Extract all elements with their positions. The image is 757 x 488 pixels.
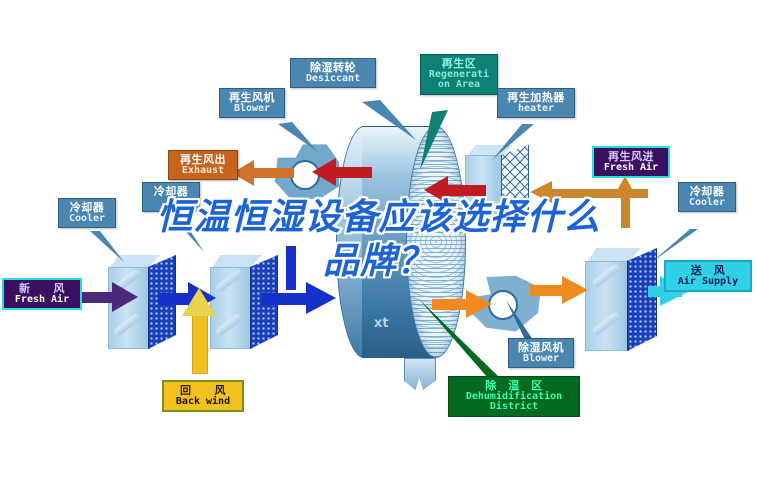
label-cn: 新 风: [8, 283, 76, 295]
arrow-shaft: [192, 312, 208, 374]
label-en: Air Supply: [670, 277, 746, 288]
label-cn: 除湿风机: [513, 342, 569, 354]
process-air-riser-arrow: [282, 246, 300, 292]
label-cooler-left[interactable]: 冷却器 Cooler: [58, 198, 116, 228]
label-cn: 回 风: [168, 385, 238, 397]
label-regen-fresh-air[interactable]: 再生风进 Fresh Air: [592, 146, 670, 178]
label-cn: 再生风机: [224, 92, 280, 104]
label-en2: District: [453, 402, 575, 413]
arrow-shaft: [262, 293, 310, 305]
arrow-head: [112, 282, 138, 312]
arrow-shaft: [250, 168, 294, 178]
rotor-honeycomb-face: [406, 126, 466, 358]
arrow-head: [182, 288, 216, 316]
label-cn: 再生加热器: [502, 92, 570, 104]
label-cn: 再生区: [425, 58, 493, 70]
label-dehumid-blower[interactable]: 除湿风机 Blower: [508, 338, 574, 368]
tail-cooler-mid: [168, 212, 204, 252]
regen-hot-air-arrow-upper: [312, 158, 368, 186]
label-exhaust[interactable]: 再生风出 Exhaust: [168, 150, 238, 180]
label-en: Back wind: [168, 397, 238, 408]
arrow-head: [562, 276, 588, 304]
label-en: Fresh Air: [598, 163, 664, 174]
label-air-supply[interactable]: 送 风 Air Supply: [664, 260, 752, 292]
label-cn: 再生风进: [598, 151, 664, 163]
label-en: Blower: [513, 354, 569, 365]
label-back-wind[interactable]: 回 风 Back wind: [162, 380, 244, 412]
arrow-head: [466, 290, 492, 318]
label-regen-area[interactable]: 再生区 Regenerati on Area: [420, 54, 498, 95]
back-wind-arrow: [182, 288, 216, 372]
label-en: Blower: [224, 104, 280, 115]
label-en: Cooler: [63, 214, 111, 225]
rotor-base-foot: [404, 358, 436, 390]
arrow-shaft: [286, 246, 296, 290]
process-air-arrow-2: [262, 282, 338, 314]
label-en2: on Area: [425, 80, 493, 91]
arrow-head: [530, 181, 552, 203]
label-cn: 冷却器: [63, 202, 111, 214]
watermark-text: xt: [374, 316, 389, 331]
arrow-shaft: [332, 167, 372, 178]
label-cn: 除湿转轮: [295, 62, 371, 74]
arrow-shaft: [444, 185, 486, 196]
label-cn: 冷却器: [683, 186, 731, 198]
label-cooler-right[interactable]: 冷却器 Cooler: [678, 182, 736, 212]
label-cn: 送 风: [670, 265, 746, 277]
label-en: heater: [502, 104, 570, 115]
label-regen-blower[interactable]: 再生风机 Blower: [219, 88, 285, 118]
arrow-head: [614, 176, 636, 196]
label-cn: 冷却器: [147, 186, 195, 198]
label-en: Fresh Air: [8, 295, 76, 306]
arrow-head: [306, 282, 336, 314]
heater-mesh-face: [501, 145, 529, 225]
regen-hot-air-arrow-lower: [424, 176, 480, 204]
label-cn: 再生风出: [173, 154, 233, 166]
exhaust-flow-arrow: [232, 160, 292, 186]
arrow-shaft: [621, 192, 630, 228]
dehumid-air-arrow-1: [432, 290, 494, 318]
label-en: Cooler: [683, 198, 731, 209]
arrow-head: [424, 176, 448, 204]
fresh-air-inlet-arrow: [78, 282, 140, 312]
label-dehumid-area[interactable]: 除 湿 区 Dehumidification District: [448, 376, 580, 417]
arrow-head: [312, 158, 336, 186]
schematic-canvas: xt: [0, 0, 757, 488]
label-fresh-air[interactable]: 新 风 Fresh Air: [2, 278, 82, 310]
label-desiccant-wheel[interactable]: 除湿转轮 Desiccant: [290, 58, 376, 88]
label-en: Desiccant: [295, 74, 371, 85]
regen-fresh-air-riser-arrow: [612, 176, 638, 226]
label-cooler-mid[interactable]: 冷却器: [142, 182, 200, 212]
label-cn: 除 湿 区: [453, 380, 575, 392]
label-en: Exhaust: [173, 166, 233, 177]
label-regen-heater[interactable]: 再生加热器 heater: [497, 88, 575, 118]
dehumid-air-arrow-2: [530, 276, 592, 304]
